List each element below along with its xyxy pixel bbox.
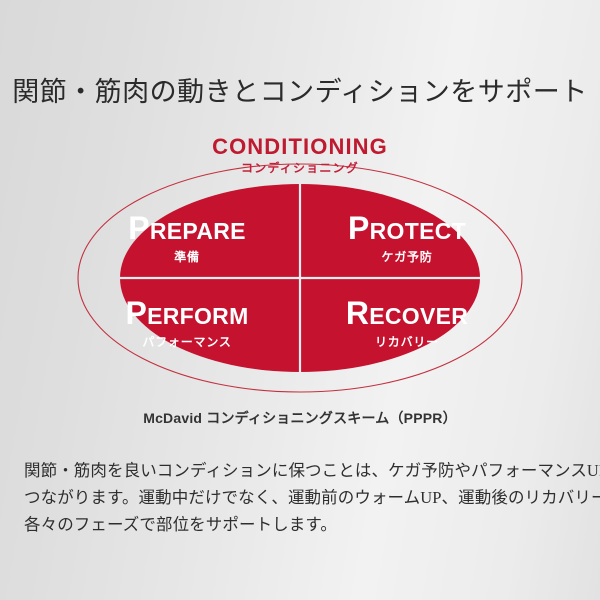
conditioning-diagram: CONDITIONING コンディショニング PREPARE 準備 PROTEC… — [60, 130, 540, 410]
conditioning-heading-block: CONDITIONING コンディショニング — [60, 136, 540, 174]
diagram-caption: McDavid コンディショニングスキーム（PPPR） — [0, 408, 600, 428]
body-paragraph: 関節・筋肉を良いコンディションに保つことは、ケガ予防やパフォーマンスUPに つな… — [24, 457, 580, 538]
page-title: 関節・筋肉の動きとコンディションをサポート — [0, 70, 600, 109]
conditioning-title-en: CONDITIONING — [60, 136, 540, 158]
body-line-1: 関節・筋肉を良いコンディションに保つことは、ケガ予防やパフォーマンスUPに — [24, 457, 580, 484]
body-line-2: つながります。運動中だけでなく、運動前のウォームUP、運動後のリカバリーなど — [24, 484, 580, 511]
page-root: 関節・筋肉の動きとコンディションをサポート CONDITIONING コンディシ… — [0, 0, 600, 600]
conditioning-title-jp: コンディショニング — [60, 162, 540, 174]
body-line-3: 各々のフェーズで部位をサポートします。 — [24, 511, 580, 538]
